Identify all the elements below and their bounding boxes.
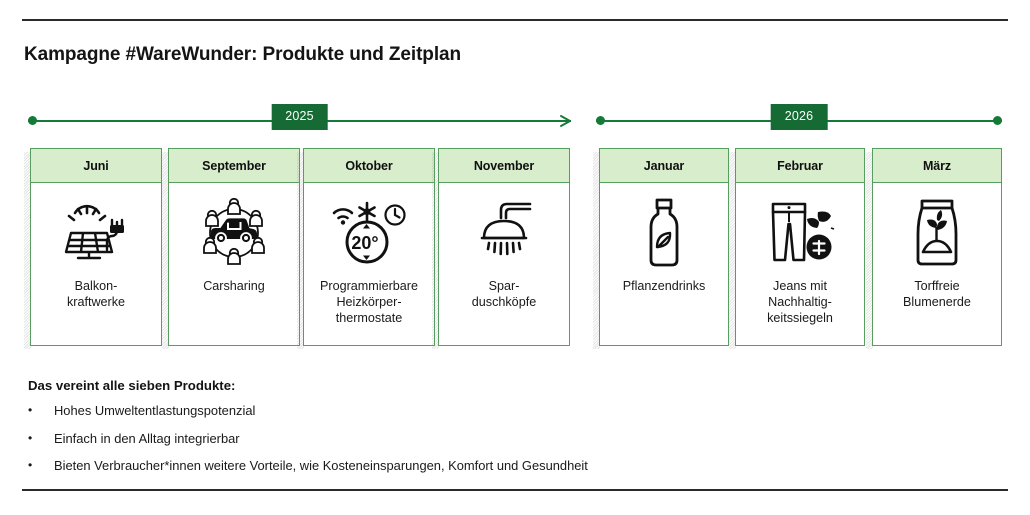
card-month-label: März bbox=[923, 159, 951, 173]
card-product-label: Carsharing bbox=[199, 278, 269, 294]
thermostat-temperature-value: 20° bbox=[351, 233, 378, 253]
list-item-text: Hohes Umweltentlastungspotenzial bbox=[54, 403, 255, 419]
list-item-text: Bieten Verbraucher*innen weitere Vorteil… bbox=[54, 458, 588, 474]
list-item: • Hohes Umweltentlastungspotenzial bbox=[28, 403, 928, 419]
bullet-marker-icon: • bbox=[28, 458, 54, 473]
product-card-oktober[interactable]: Oktober bbox=[303, 148, 435, 346]
timeline-2026: 2026 bbox=[596, 104, 1002, 138]
card-month-label: Februar bbox=[777, 159, 823, 173]
card-header-month: Juni bbox=[31, 149, 161, 183]
card-month-label: November bbox=[474, 159, 534, 173]
timeline-year-badge-2025: 2025 bbox=[271, 104, 328, 130]
plant-drink-bottle-icon bbox=[636, 197, 692, 269]
card-header-month: November bbox=[439, 149, 569, 183]
footer-heading: Das vereint alle sieben Produkte: bbox=[28, 378, 235, 393]
list-item: • Bieten Verbraucher*innen weitere Vorte… bbox=[28, 458, 928, 474]
solar-panel-plug-icon bbox=[59, 197, 133, 269]
card-product-label: Balkon-kraftwerke bbox=[63, 278, 129, 310]
card-body: Carsharing bbox=[169, 183, 299, 345]
card-product-label: Spar-duschköpfe bbox=[468, 278, 540, 310]
infographic-page: Kampagne #WareWunder: Produkte und Zeitp… bbox=[0, 0, 1030, 515]
product-card-maerz[interactable]: März TorffreieBlume bbox=[872, 148, 1002, 346]
card-product-label: ProgrammierbareHeizkörper-thermostate bbox=[316, 278, 422, 326]
card-month-label: Januar bbox=[644, 159, 684, 173]
product-card-november[interactable]: November S bbox=[438, 148, 570, 346]
page-title: Kampagne #WareWunder: Produkte und Zeitp… bbox=[24, 44, 461, 66]
timeline-start-dot-icon bbox=[28, 116, 37, 125]
product-card-januar[interactable]: Januar Pflanzendrinks bbox=[599, 148, 729, 346]
card-header-month: Januar bbox=[600, 149, 728, 183]
carsharing-people-car-icon bbox=[198, 197, 270, 269]
list-item-text: Einfach in den Alltag integrierbar bbox=[54, 431, 240, 447]
card-body: Pflanzendrinks bbox=[600, 183, 728, 345]
card-body: Jeans mitNachhaltig-keitssiegeln bbox=[736, 183, 864, 345]
bullet-marker-icon: • bbox=[28, 403, 54, 418]
timeline-end-dot-icon bbox=[993, 116, 1002, 125]
top-divider bbox=[22, 19, 1008, 21]
timeline-2025: 2025 bbox=[28, 104, 571, 138]
jeans-sustainability-label-icon bbox=[761, 197, 839, 269]
card-body: TorffreieBlumenerde bbox=[873, 183, 1001, 345]
card-body: Spar-duschköpfe bbox=[439, 183, 569, 345]
card-body: Balkon-kraftwerke bbox=[31, 183, 161, 345]
bottom-divider bbox=[22, 489, 1008, 491]
card-header-month: März bbox=[873, 149, 1001, 183]
card-header-month: September bbox=[169, 149, 299, 183]
card-month-label: Juni bbox=[83, 159, 108, 173]
programmable-thermostat-icon: 20° bbox=[330, 197, 408, 269]
footer-bullet-list: • Hohes Umweltentlastungspotenzial • Ein… bbox=[28, 403, 928, 486]
product-card-september[interactable]: September bbox=[168, 148, 300, 346]
card-product-label: Jeans mitNachhaltig-keitssiegeln bbox=[763, 278, 837, 326]
soil-bag-sprout-icon bbox=[908, 197, 966, 269]
product-card-juni[interactable]: Juni bbox=[30, 148, 162, 346]
product-card-februar[interactable]: Februar bbox=[735, 148, 865, 346]
card-header-month: Oktober bbox=[304, 149, 434, 183]
card-month-label: September bbox=[202, 159, 266, 173]
bullet-marker-icon: • bbox=[28, 431, 54, 446]
list-item: • Einfach in den Alltag integrierbar bbox=[28, 431, 928, 447]
card-product-label: TorffreieBlumenerde bbox=[899, 278, 975, 310]
card-month-label: Oktober bbox=[345, 159, 392, 173]
timeline-start-dot-icon bbox=[596, 116, 605, 125]
timeline-year-badge-2026: 2026 bbox=[771, 104, 828, 130]
card-body: 20° ProgrammierbareHeizkörper-thermostat… bbox=[304, 183, 434, 345]
card-product-label: Pflanzendrinks bbox=[619, 278, 710, 294]
card-header-month: Februar bbox=[736, 149, 864, 183]
shower-head-icon bbox=[469, 197, 539, 269]
timeline-end-arrow-icon bbox=[560, 114, 571, 128]
